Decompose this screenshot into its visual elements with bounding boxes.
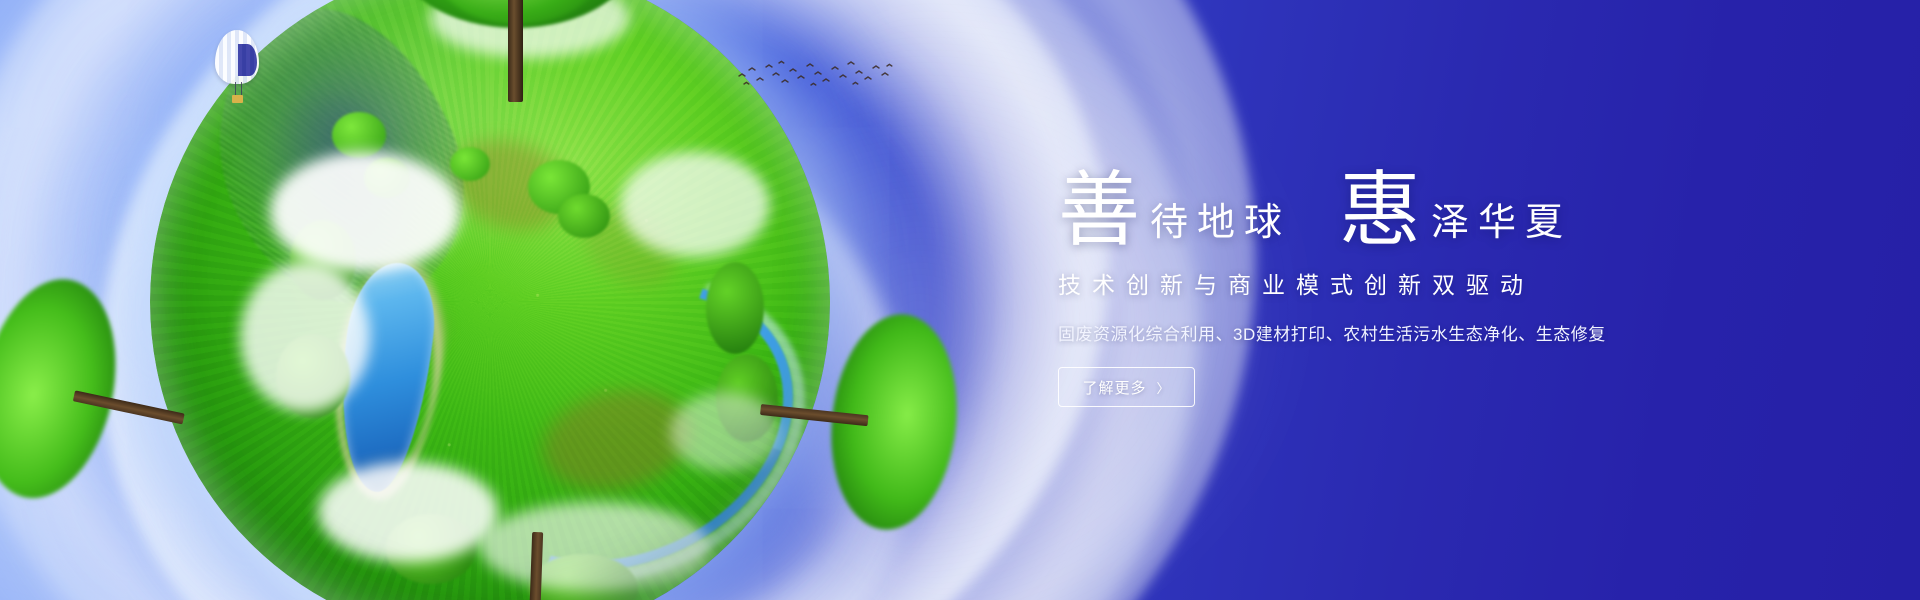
learn-more-label: 了解更多 (1082, 377, 1146, 398)
learn-more-button[interactable]: 了解更多 〉 (1058, 367, 1195, 407)
headline-rest-2: 泽华夏 (1421, 204, 1572, 242)
headline-rest-1: 待地球 (1140, 204, 1291, 242)
headline-lead-2: 惠 (1339, 170, 1421, 252)
globe-cloud (270, 152, 460, 272)
tree-icon (431, 525, 638, 600)
hero-subtitle: 技术创新与商业模式创新双驱动 (1058, 266, 1818, 300)
globe-cloud (620, 152, 770, 257)
page-title: 善 待地球 惠 泽华夏 (1058, 150, 1818, 246)
bird-flock-icon (735, 58, 895, 92)
hot-air-balloon-icon (215, 30, 259, 106)
hero-banner: 善 待地球 惠 泽华夏 技术创新与商业模式创新双驱动 固废资源化综合利用、3D建… (0, 0, 1920, 600)
globe-cloud (240, 262, 370, 412)
globe-bush (558, 194, 610, 238)
globe-bush (706, 262, 764, 354)
tree-icon (396, 0, 636, 92)
chevron-right-icon: 〉 (1157, 378, 1171, 397)
hero-description: 固废资源化综合利用、3D建材打印、农村生活污水生态净化、生态修复 (1058, 320, 1818, 345)
globe-bush (450, 147, 490, 181)
tree-icon (0, 263, 214, 532)
tree-icon (745, 300, 967, 540)
hero-copy: 善 待地球 惠 泽华夏 技术创新与商业模式创新双驱动 固废资源化综合利用、3D建… (1058, 150, 1818, 407)
headline-lead-1: 善 (1058, 170, 1140, 252)
